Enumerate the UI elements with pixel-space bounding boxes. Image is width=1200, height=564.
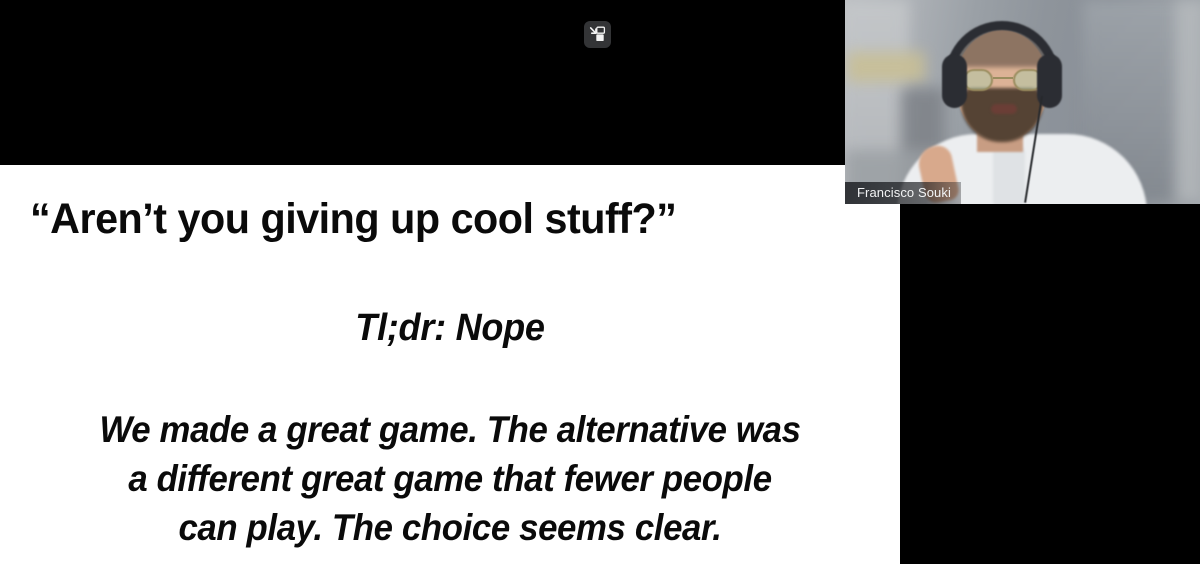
- person-mouth: [991, 104, 1017, 114]
- slide-body-line-1: We made a great game. The alternative wa…: [53, 405, 846, 454]
- slide-heading: “Aren’t you giving up cool stuff?”: [30, 197, 836, 242]
- participant-person: [845, 0, 1200, 204]
- headphone-earcup-left: [942, 54, 967, 108]
- minimize-to-corner-button[interactable]: [584, 21, 611, 48]
- slide-body-line-3: can play. The choice seems clear.: [53, 503, 846, 552]
- participant-name-label: Francisco Souki: [845, 182, 961, 204]
- screen-share-stage: “Aren’t you giving up cool stuff?” Tl;dr…: [0, 0, 1200, 564]
- letterbox-right-bar: [900, 204, 1200, 564]
- slide-body-text: We made a great game. The alternative wa…: [53, 405, 846, 552]
- presentation-slide[interactable]: “Aren’t you giving up cool stuff?” Tl;dr…: [0, 165, 900, 564]
- minimize-to-corner-icon: [589, 26, 606, 43]
- video-feed: [845, 0, 1200, 204]
- slide-body-line-2: a different great game that fewer people: [53, 454, 846, 503]
- slide-content: “Aren’t you giving up cool stuff?” Tl;dr…: [0, 165, 900, 564]
- slide-tldr-line: Tl;dr: Nope: [23, 309, 878, 349]
- participant-video-tile[interactable]: Francisco Souki: [845, 0, 1200, 204]
